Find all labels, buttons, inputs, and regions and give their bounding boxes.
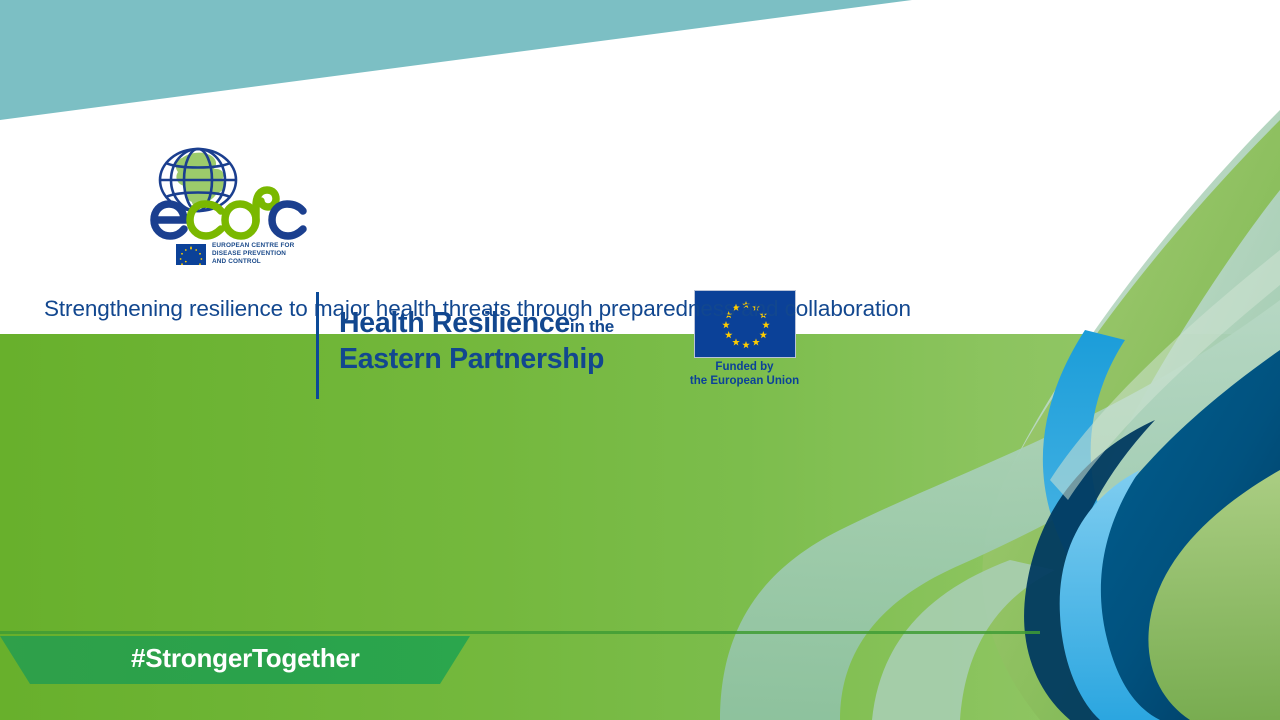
- eu-funding-caption: Funded by the European Union: [687, 360, 802, 388]
- ecdc-wordmark: [148, 186, 308, 242]
- hashtag-label: #StrongerTogether: [131, 643, 360, 674]
- logo-bar: EUROPEAN CENTRE FOR DISEASE PREVENTION A…: [0, 140, 1000, 270]
- programme-title-line2: Eastern Partnership: [339, 343, 679, 376]
- eu-flag-icon: [176, 244, 206, 265]
- ribbon-top-rule: [0, 631, 1040, 634]
- ecdc-subtitle-text: EUROPEAN CENTRE FOR DISEASE PREVENTION A…: [212, 242, 312, 267]
- tagline: Strengthening resilience to major health…: [44, 294, 1044, 324]
- ecdc-logo: EUROPEAN CENTRE FOR DISEASE PREVENTION A…: [148, 144, 308, 268]
- slide-canvas: #StrongerTogether: [0, 0, 1280, 720]
- ecdc-subtitle-block: EUROPEAN CENTRE FOR DISEASE PREVENTION A…: [176, 242, 311, 270]
